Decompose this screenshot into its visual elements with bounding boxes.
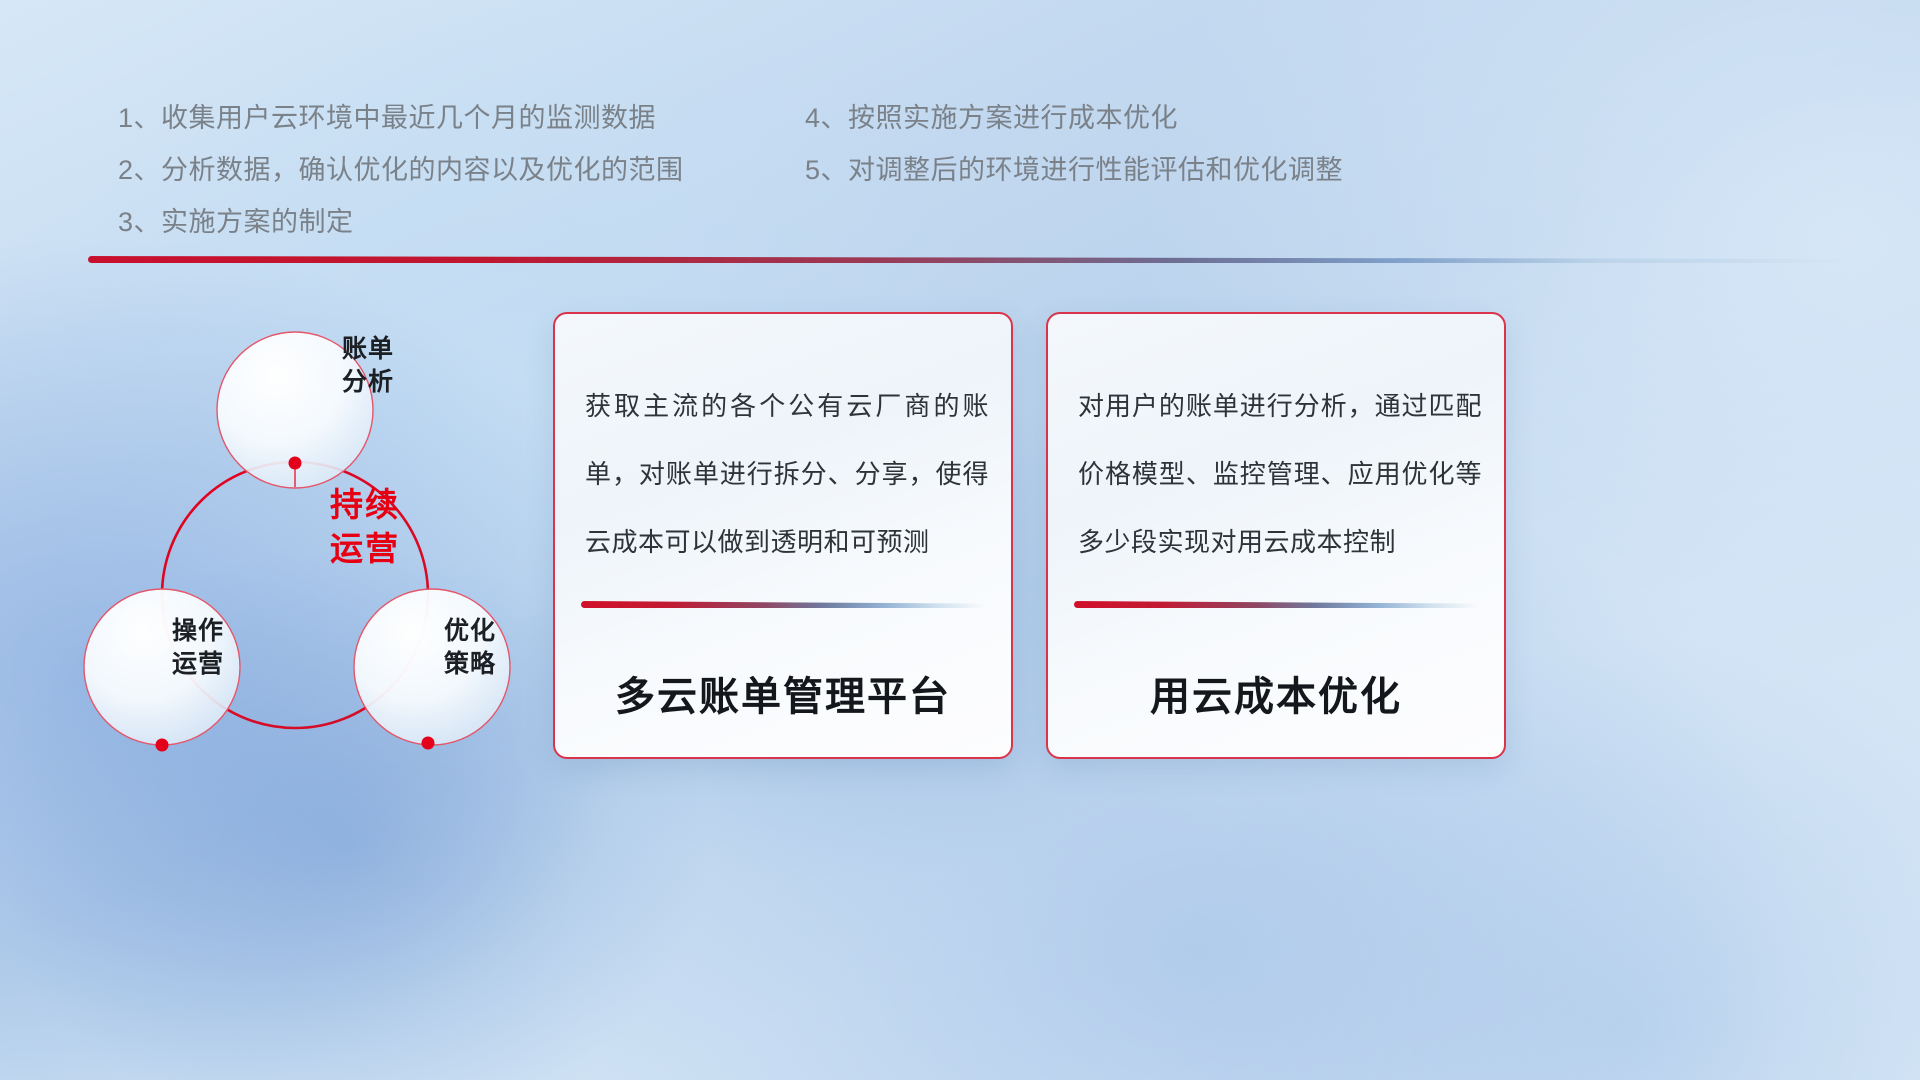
continuous-operation-diagram: 账单 分析 持续 运营 操作 运营 优化 策略 — [80, 285, 550, 785]
node-label-right: 优化 策略 — [400, 615, 540, 681]
node-label-top: 账单 分析 — [298, 333, 438, 399]
process-step-5: 5、对调整后的环境进行性能评估和优化调整 — [805, 144, 1343, 196]
feature-card-body: 获取主流的各个公有云厂商的账单，对账单进行拆分、分享，使得云成本可以做到透明和可… — [585, 372, 989, 576]
process-step-2: 2、分析数据，确认优化的内容以及优化的范围 — [118, 144, 684, 196]
feature-card-title: 用云成本优化 — [1048, 664, 1504, 722]
connector-dot-left — [156, 739, 169, 752]
node-label-center: 持续 运营 — [275, 483, 455, 571]
process-steps-column-right: 4、按照实施方案进行成本优化 5、对调整后的环境进行性能评估和优化调整 — [805, 92, 1343, 196]
process-step-3: 3、实施方案的制定 — [118, 196, 684, 248]
feature-card-billing-platform[interactable]: 获取主流的各个公有云厂商的账单，对账单进行拆分、分享，使得云成本可以做到透明和可… — [553, 312, 1013, 759]
node-label-left: 操作 运营 — [128, 615, 268, 681]
process-step-4: 4、按照实施方案进行成本优化 — [805, 92, 1343, 144]
section-divider — [88, 256, 1848, 263]
feature-card-body: 对用户的账单进行分析，通过匹配价格模型、监控管理、应用优化等多少段实现对用云成本… — [1078, 372, 1482, 576]
feature-card-accent-bar — [1074, 601, 1478, 608]
slide-canvas: 1、收集用户云环境中最近几个月的监测数据 2、分析数据，确认优化的内容以及优化的… — [0, 0, 1920, 1080]
feature-card-accent-bar — [581, 601, 985, 608]
process-steps-column-left: 1、收集用户云环境中最近几个月的监测数据 2、分析数据，确认优化的内容以及优化的… — [118, 92, 684, 248]
connector-dot-top — [289, 457, 302, 470]
feature-card-title: 多云账单管理平台 — [555, 664, 1011, 722]
process-step-1: 1、收集用户云环境中最近几个月的监测数据 — [118, 92, 684, 144]
connector-dot-right — [422, 737, 435, 750]
divider-bar — [88, 256, 1848, 263]
feature-card-cost-optimization[interactable]: 对用户的账单进行分析，通过匹配价格模型、监控管理、应用优化等多少段实现对用云成本… — [1046, 312, 1506, 759]
